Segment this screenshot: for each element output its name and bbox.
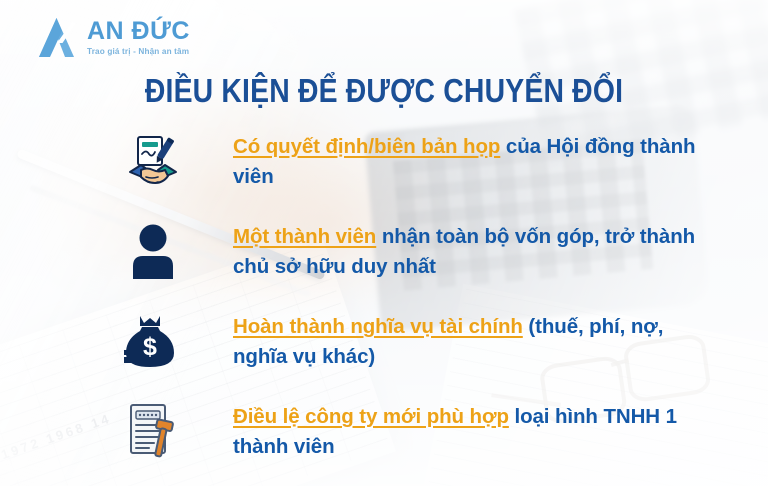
list-item-text: Có quyết định/biên bản họp của Hội đồng … (188, 128, 718, 192)
svg-text:$: $ (143, 333, 157, 361)
list-item-highlight: Điều lệ công ty mới phù hợp (233, 405, 509, 428)
list-item: Có quyết định/biên bản họp của Hội đồng … (118, 128, 718, 202)
brand-tagline: Trao giá trị - Nhận an tâm (87, 48, 190, 56)
brand-name: AN ĐỨC (87, 19, 190, 44)
handshake-signing-document-icon (118, 128, 188, 194)
list-item: Điều lệ công ty mới phù hợp loại hình TN… (118, 398, 718, 472)
list-item-text: Điều lệ công ty mới phù hợp loại hình TN… (188, 398, 718, 462)
content-layer: AN ĐỨC Trao giá trị - Nhận an tâm ĐIỀU K… (0, 0, 768, 486)
list-item-text: Một thành viên nhận toàn bộ vốn góp, trở… (188, 218, 718, 282)
person-silhouette-icon (118, 218, 188, 284)
list-item-highlight: Một thành viên (233, 225, 376, 248)
conditions-list: Có quyết định/biên bản họp của Hội đồng … (118, 128, 718, 472)
page-title: ĐIỀU KIỆN ĐỂ ĐƯỢC CHUYỂN ĐỔI (54, 72, 714, 110)
a-mountain-logo-icon (36, 17, 80, 59)
list-item-highlight: Có quyết định/biên bản họp (233, 135, 500, 158)
brand-logo: AN ĐỨC Trao giá trị - Nhận an tâm (36, 17, 190, 59)
brand-logo-text: AN ĐỨC Trao giá trị - Nhận an tâm (87, 19, 190, 56)
money-bag-dollar-icon: $ (118, 308, 188, 374)
list-item-highlight: Hoàn thành nghĩa vụ tài chính (233, 315, 523, 338)
list-item-text: Hoàn thành nghĩa vụ tài chính (thuế, phí… (188, 308, 718, 372)
list-item: $ Hoàn thành nghĩa vụ tài chính (thuế, p… (118, 308, 718, 382)
list-item: Một thành viên nhận toàn bộ vốn góp, trở… (118, 218, 718, 292)
infographic-canvas: 1972 1968 14 AN ĐỨ (0, 0, 768, 486)
document-gavel-icon (118, 398, 188, 464)
